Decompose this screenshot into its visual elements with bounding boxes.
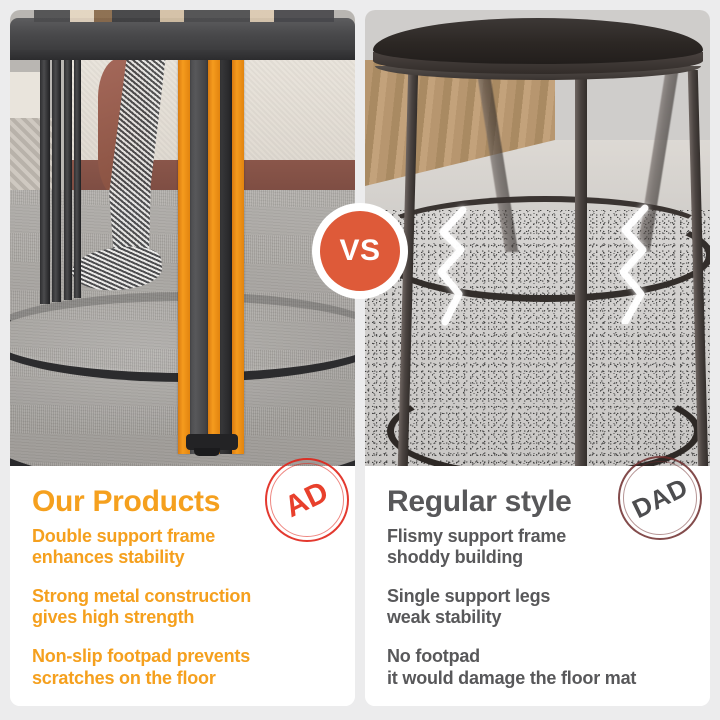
table-top-edge — [10, 50, 355, 60]
tabletop-decor-items — [34, 10, 334, 22]
right-photo-scene — [365, 10, 710, 466]
vs-badge: VS — [312, 203, 408, 299]
orange-support-bar — [232, 56, 244, 454]
dad-stamp: DAD — [618, 456, 702, 540]
non-slip-footpad-base — [194, 448, 220, 456]
left-photo-scene — [10, 10, 355, 466]
wobble-line-icon — [433, 206, 479, 326]
table-leg — [64, 60, 72, 300]
table-top — [373, 18, 703, 64]
right-feature-item: No footpad it would damage the floor mat — [387, 646, 694, 688]
dad-stamp-label: DAD — [604, 442, 716, 554]
left-feature-item: Strong metal construction gives high str… — [32, 586, 339, 628]
panel-our-products: Our Products Double support frame enhanc… — [10, 10, 355, 706]
left-product-photo — [10, 10, 355, 466]
table-base-ring — [379, 208, 710, 302]
table-leg — [52, 60, 61, 302]
vs-badge-label: VS — [320, 211, 400, 291]
panel-regular-style: Regular style Flismy support frame shodd… — [365, 10, 710, 706]
right-product-photo — [365, 10, 710, 466]
ad-stamp-label: AD — [251, 444, 363, 556]
comparison-infographic: Our Products Double support frame enhanc… — [0, 0, 720, 720]
orange-support-bar — [178, 56, 190, 454]
table-leg — [40, 60, 50, 304]
orange-support-bar — [208, 56, 220, 454]
left-feature-item: Non-slip footpad prevents scratches on t… — [32, 646, 339, 688]
ad-stamp: AD — [265, 458, 349, 542]
wobble-line-icon — [611, 204, 657, 324]
table-top — [10, 18, 355, 52]
table-leg-center — [575, 70, 587, 466]
table-leg — [74, 60, 81, 298]
right-feature-item: Single support legs weak stability — [387, 586, 694, 628]
